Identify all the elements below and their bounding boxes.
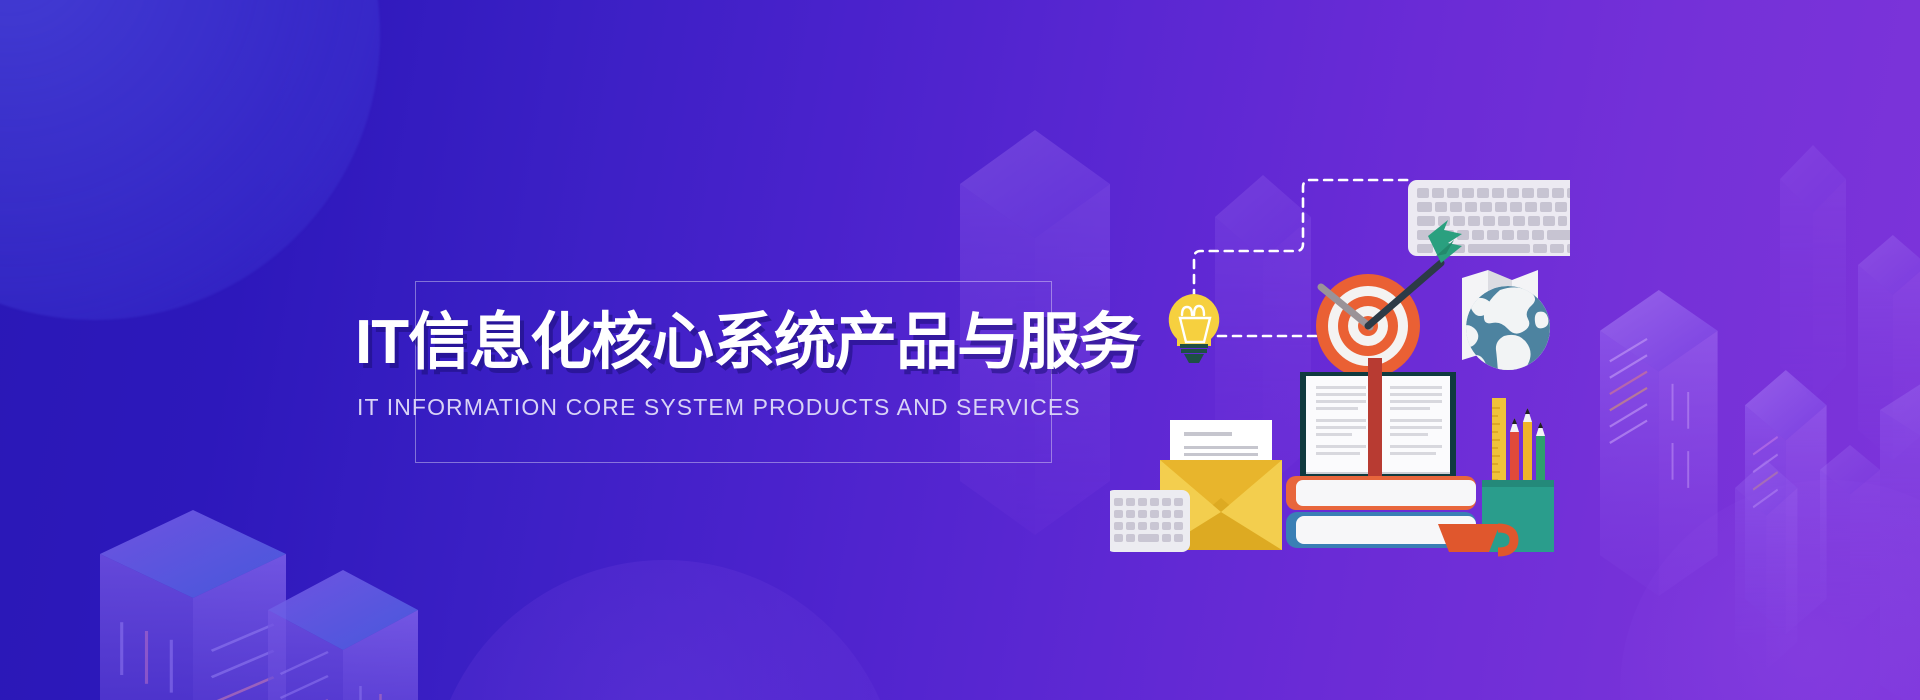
book-stack-orange	[1286, 476, 1476, 510]
it-services-banner: IT信息化核心系统产品与服务 IT INFORMATION CORE SYSTE…	[0, 0, 1920, 700]
it-office-illustration	[1110, 130, 1570, 570]
page-subtitle: IT INFORMATION CORE SYSTEM PRODUCTS AND …	[357, 396, 1081, 419]
lightbulb-icon	[1169, 294, 1220, 363]
small-keyboard-icon	[1110, 490, 1190, 552]
page-title: IT信息化核心系统产品与服务	[355, 312, 1140, 374]
